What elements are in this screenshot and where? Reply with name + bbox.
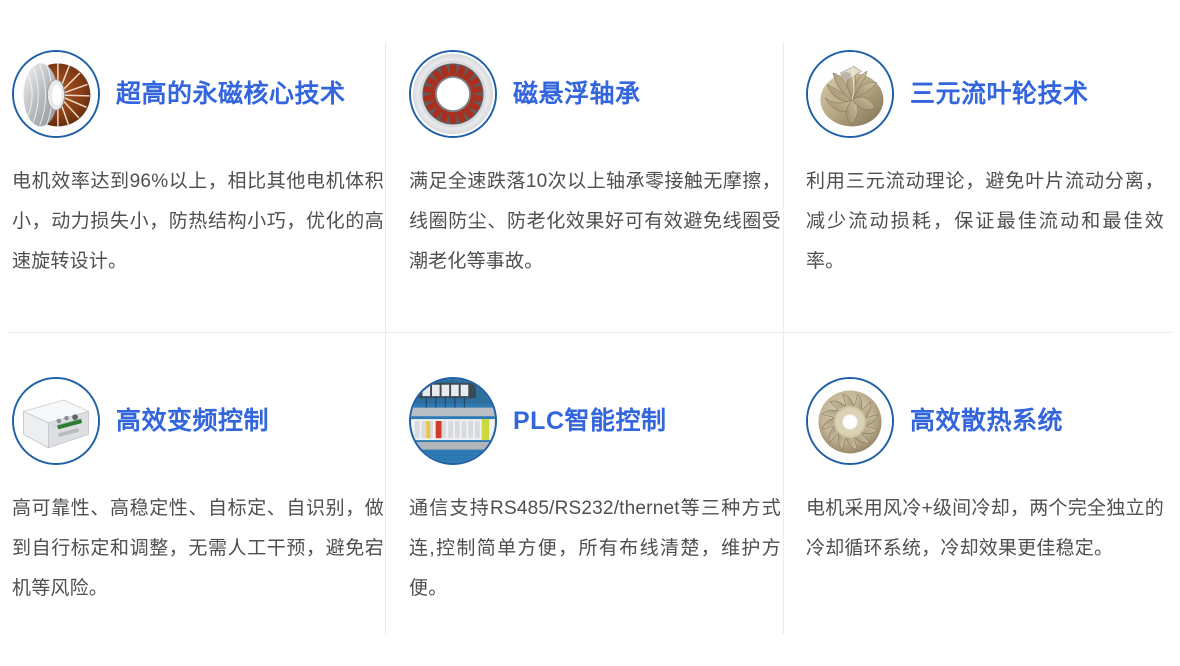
feature-card-header: PLC智能控制 — [409, 375, 781, 467]
feature-card-high-efficiency-vfd[interactable]: 高效变频控制 高可靠性、高稳定性、自标定、自识别，做到自行标定和调整，无需人工干… — [12, 375, 384, 609]
motor-stator-rotor-icon — [12, 50, 100, 138]
feature-card-permanent-magnet-core[interactable]: 超高的永磁核心技术 电机效率达到96%以上，相比其他电机体积小，动力损失小，防热… — [12, 48, 384, 282]
feature-card-title: 高效变频控制 — [116, 406, 269, 436]
vertical-divider-right — [783, 42, 784, 634]
plc-control-cabinet-icon — [409, 377, 497, 465]
feature-card-magnetic-levitation-bearing[interactable]: 磁悬浮轴承 满足全速跌落10次以上轴承零接触无摩擦，线圈防尘、防老化效果好可有效… — [409, 48, 781, 282]
feature-card-ternary-flow-impeller[interactable]: 三元流叶轮技术 利用三元流动理论，避免叶片流动分离，减少流动损耗，保证最佳流动和… — [806, 48, 1172, 282]
impeller-3d-icon — [806, 50, 894, 138]
cooling-fan-wheel-icon — [806, 377, 894, 465]
feature-card-title: 高效散热系统 — [910, 406, 1063, 436]
feature-card-header: 磁悬浮轴承 — [409, 48, 781, 140]
magnetic-bearing-coil-icon — [409, 50, 497, 138]
feature-card-header: 超高的永磁核心技术 — [12, 48, 384, 140]
vertical-divider-left — [385, 42, 386, 634]
feature-card-high-efficiency-cooling[interactable]: 高效散热系统 电机采用风冷+级间冷却，两个完全独立的冷却循环系统，冷却效果更佳稳… — [806, 375, 1172, 569]
feature-card-header: 高效变频控制 — [12, 375, 384, 467]
feature-card-description: 满足全速跌落10次以上轴承零接触无摩擦，线圈防尘、防老化效果好可有效避免线圈受潮… — [409, 162, 781, 282]
feature-card-header: 三元流叶轮技术 — [806, 48, 1172, 140]
horizontal-divider — [8, 332, 1172, 333]
feature-card-plc-intelligent-control[interactable]: PLC智能控制 通信支持RS485/RS232/thernet等三种方式连,控制… — [409, 375, 781, 609]
feature-card-description: 电机效率达到96%以上，相比其他电机体积小，动力损失小，防热结构小巧，优化的高速… — [12, 162, 384, 282]
feature-card-title: 磁悬浮轴承 — [513, 79, 641, 109]
feature-card-header: 高效散热系统 — [806, 375, 1172, 467]
feature-card-description: 高可靠性、高稳定性、自标定、自识别，做到自行标定和调整，无需人工干预，避免宕机等… — [12, 489, 384, 609]
feature-grid: 超高的永磁核心技术 电机效率达到96%以上，相比其他电机体积小，动力损失小，防热… — [0, 0, 1180, 666]
feature-card-title: PLC智能控制 — [513, 406, 667, 436]
feature-card-description: 电机采用风冷+级间冷却，两个完全独立的冷却循环系统，冷却效果更佳稳定。 — [806, 489, 1164, 569]
vfd-controller-box-icon — [12, 377, 100, 465]
feature-card-title: 三元流叶轮技术 — [910, 79, 1089, 109]
feature-card-title: 超高的永磁核心技术 — [116, 79, 346, 109]
feature-card-description: 利用三元流动理论，避免叶片流动分离，减少流动损耗，保证最佳流动和最佳效率。 — [806, 162, 1164, 282]
feature-card-description: 通信支持RS485/RS232/thernet等三种方式连,控制简单方便，所有布… — [409, 489, 781, 609]
